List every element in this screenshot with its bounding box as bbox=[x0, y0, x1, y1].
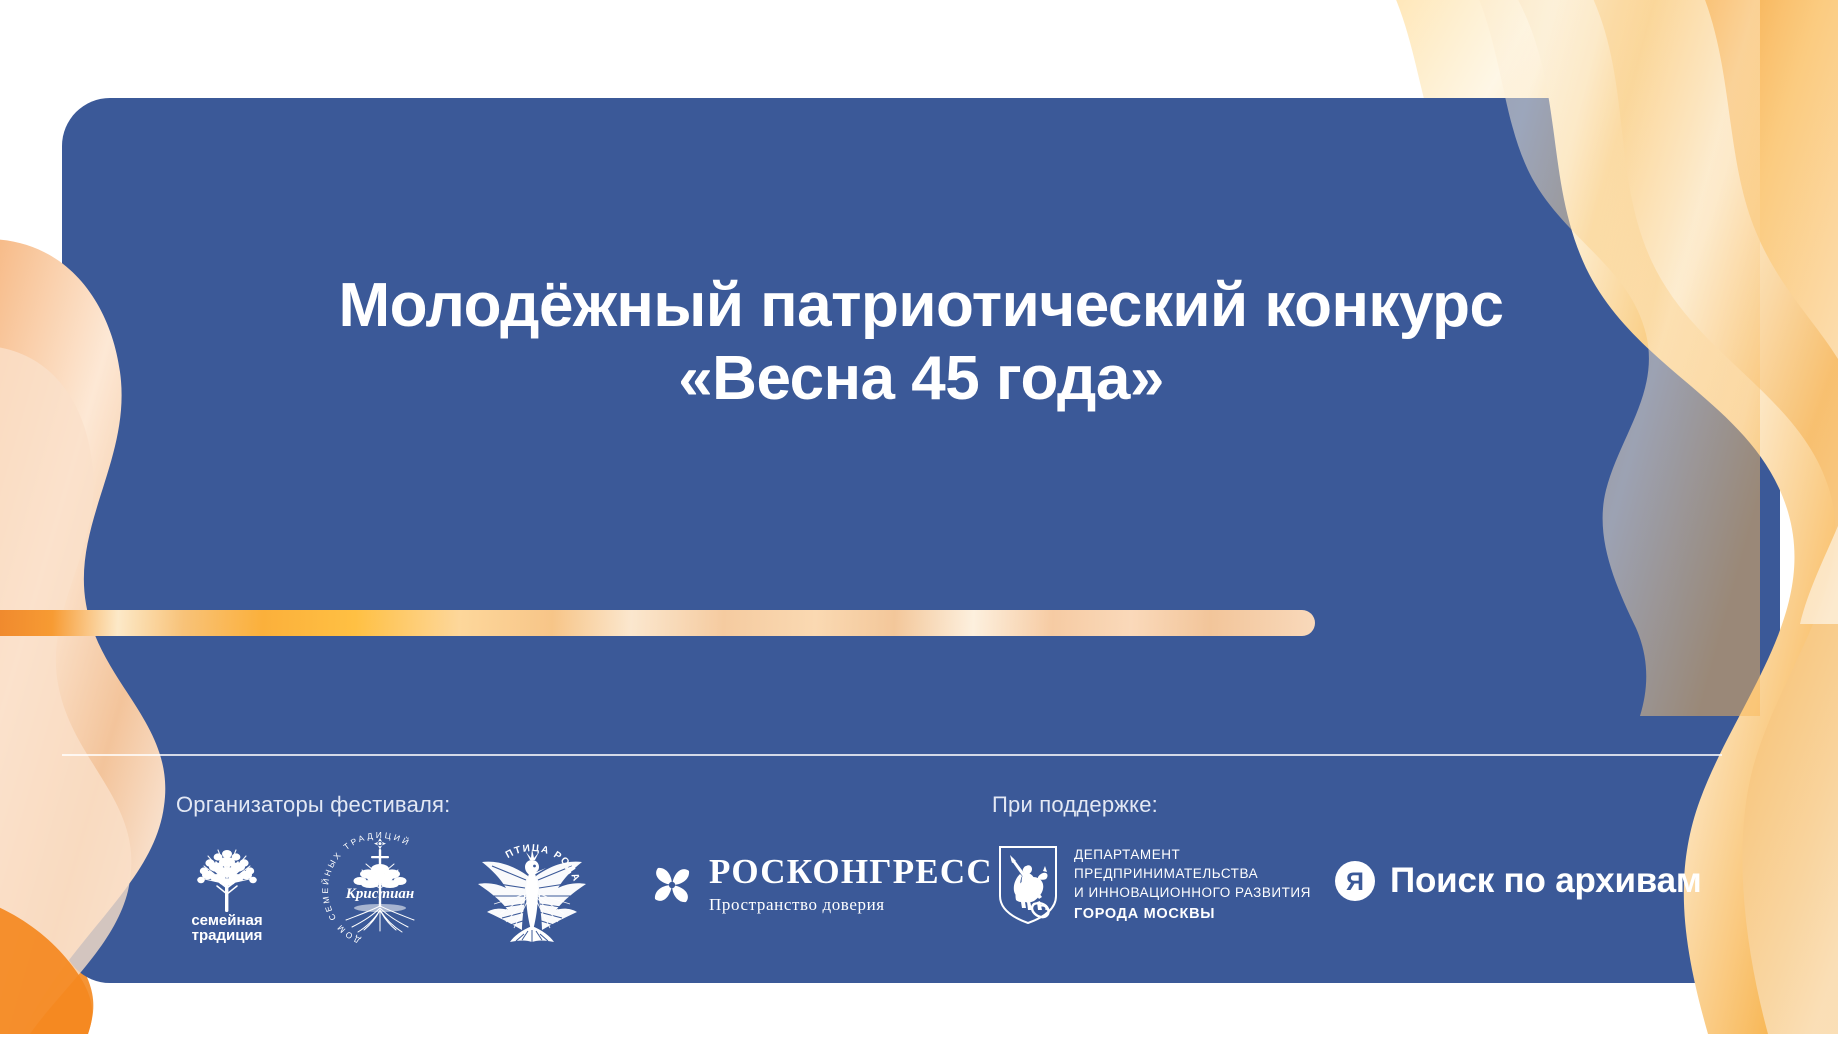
moscow-line-2: ПРЕДПРИНИМАТЕЛЬСТВА bbox=[1074, 865, 1311, 882]
firebird-icon: ПТИЦА РОДА bbox=[470, 830, 594, 946]
yandex-ya-icon: Я bbox=[1334, 860, 1376, 902]
logo-moscow-department[interactable]: ДЕПАРТАМЕНТ ПРЕДПРИНИМАТЕЛЬСТВА И ИННОВА… bbox=[996, 844, 1314, 930]
moscow-line-3: И ИННОВАЦИОННОГО РАЗВИТИЯ bbox=[1074, 884, 1311, 901]
svg-text:Я: Я bbox=[1346, 868, 1364, 896]
organizers-label: Организаторы фестиваля: bbox=[176, 792, 450, 818]
logo-ptitsa-roda[interactable]: ПТИЦА РОДА bbox=[470, 830, 594, 946]
moscow-line-1: ДЕПАРТАМЕНТ bbox=[1074, 846, 1311, 863]
yandex-archive-label: Поиск по архивам bbox=[1390, 861, 1702, 901]
pinwheel-icon bbox=[649, 862, 695, 908]
accent-bar bbox=[0, 610, 1315, 636]
logo-roscongress[interactable]: РОСКОНГРЕСС Пространство доверия bbox=[649, 854, 949, 924]
tree-icon: семейная традиция bbox=[174, 832, 280, 944]
footer: Организаторы фестиваля: При поддержке: bbox=[62, 754, 1780, 983]
moscow-line-bold: ГОРОДА МОСКВЫ bbox=[1074, 905, 1311, 923]
tree-seal-icon: Кристиан ДОМ СЕМЕЙНЫХ ТРАДИЦИЙ bbox=[318, 828, 442, 948]
logo-script-text: Кристиан bbox=[345, 886, 415, 902]
roscongress-subtitle: Пространство доверия bbox=[709, 895, 993, 915]
support-label: При поддержке: bbox=[992, 792, 1158, 818]
moscow-coat-of-arms-icon bbox=[996, 844, 1060, 926]
roscongress-title: РОСКОНГРЕСС bbox=[709, 854, 993, 889]
logo-yandex-archive-search[interactable]: Я Поиск по архивам bbox=[1334, 860, 1702, 916]
logo-dom-semeynyh-traditsiy[interactable]: Кристиан ДОМ СЕМЕЙНЫХ ТРАДИЦИЙ bbox=[318, 828, 442, 948]
logo-semeynaya-traditsiya[interactable]: семейная традиция bbox=[174, 832, 280, 944]
logo-text-line-2: традиция bbox=[192, 927, 263, 944]
